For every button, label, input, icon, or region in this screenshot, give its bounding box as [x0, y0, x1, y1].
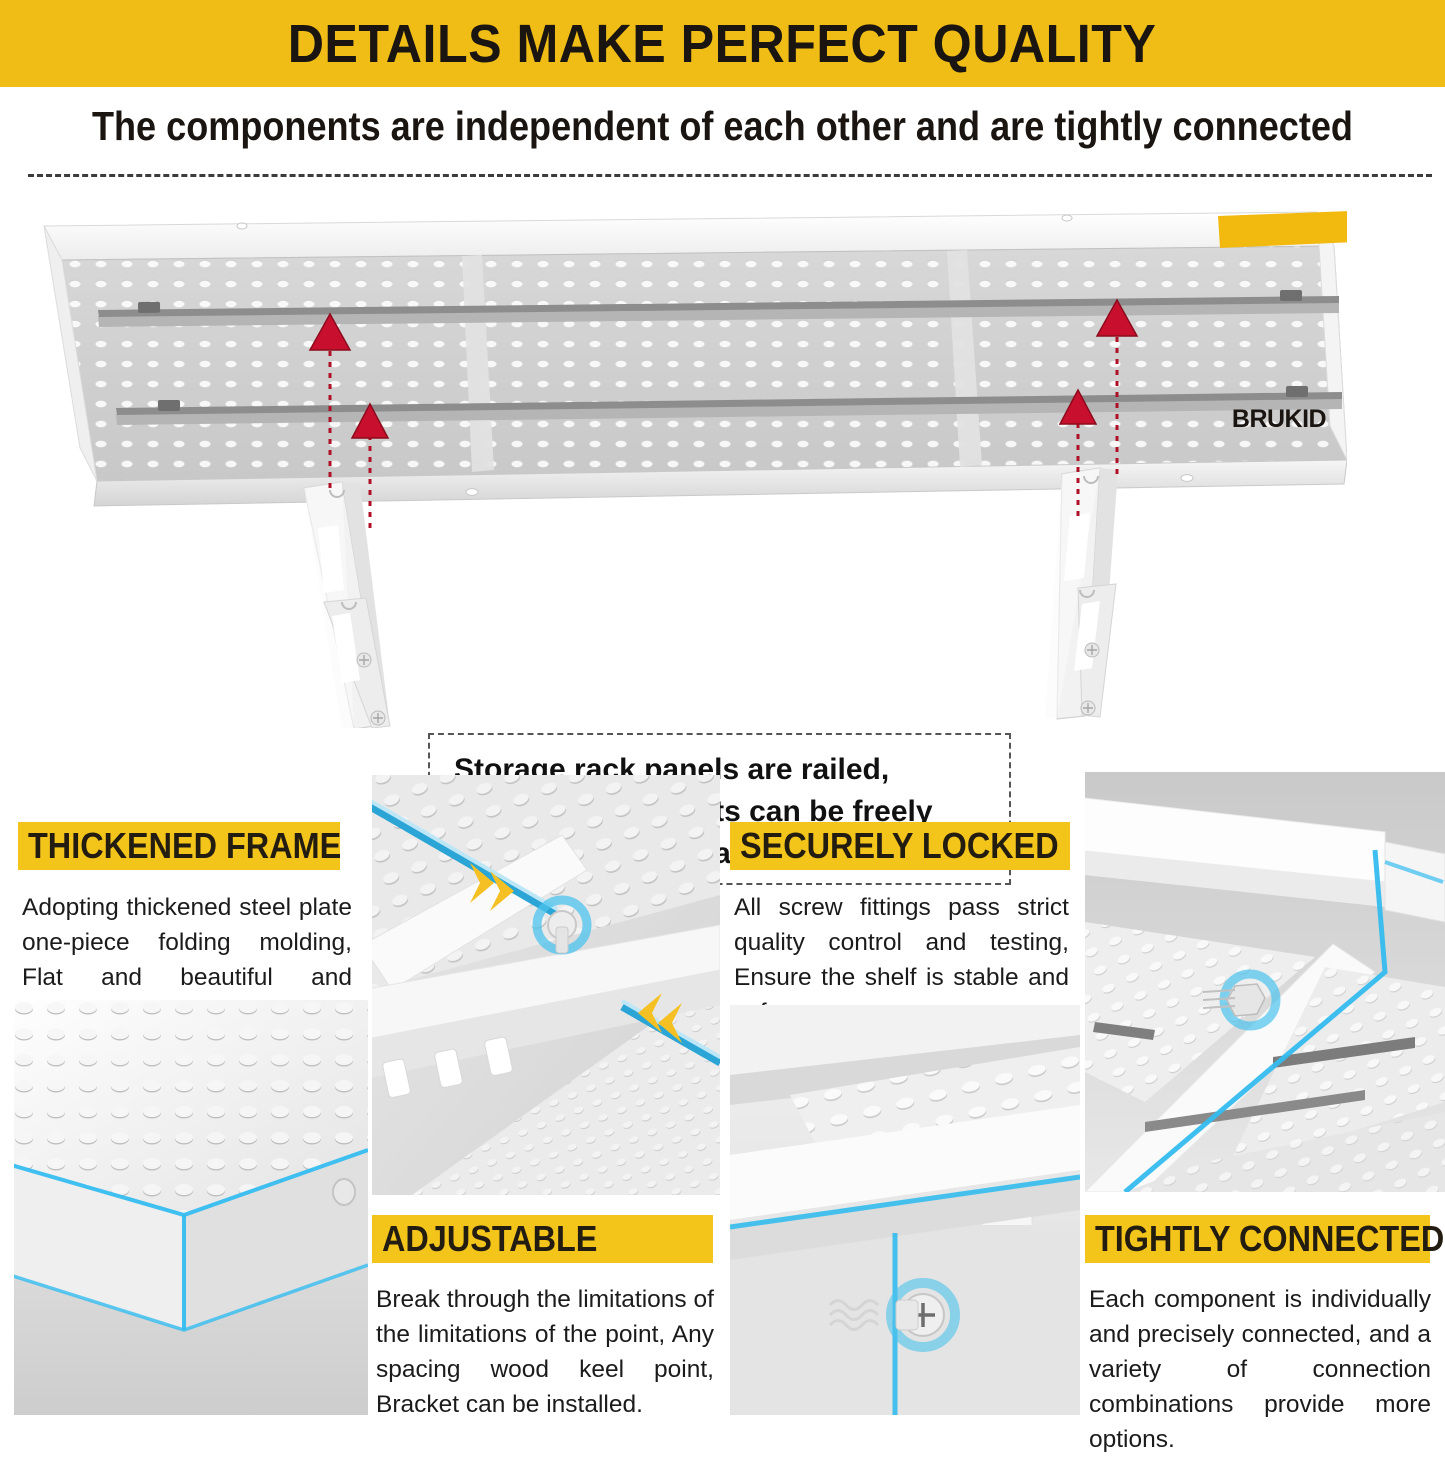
brand-logo: BRUKID: [1218, 403, 1340, 435]
feature-label-text: TIGHTLY CONNECTED: [1095, 1218, 1444, 1260]
feature-photo-frame-bolt: [1085, 772, 1445, 1192]
feature-photo-perforated-plate: [14, 1000, 368, 1415]
feature-label-thickened-frame: THICKENED FRAME: [18, 822, 340, 870]
feature-grid: THICKENED FRAME Adopting thickened steel…: [0, 760, 1445, 1415]
hero-product-illustration: BRUKID Storage rack panels are railed, E…: [0, 190, 1445, 750]
feature-label-adjustable: ADJUSTABLE: [372, 1215, 713, 1263]
page-subtitle: The components are independent of each o…: [92, 103, 1353, 150]
feature-label-securely-locked: SECURELY LOCKED: [730, 822, 1070, 870]
subtitle-container: The components are independent of each o…: [0, 87, 1445, 157]
feature-label-text: ADJUSTABLE: [382, 1218, 597, 1260]
brand-badge: [1218, 211, 1347, 248]
feature-column-securely-locked: SECURELY LOCKED All screw fittings pass …: [730, 760, 1078, 1415]
brand-logo-text: BRUKID: [1232, 405, 1326, 434]
feature-column-thickened-frame: THICKENED FRAME Adopting thickened steel…: [0, 760, 368, 1415]
bracket-right: [1045, 468, 1118, 719]
feature-photo-screw-fitting: [730, 1005, 1080, 1415]
feature-photo-adjustable-rail: [372, 775, 720, 1195]
feature-text-tightly-connected: Each component is individually and preci…: [1085, 1272, 1437, 1457]
page-title: DETAILS MAKE PERFECT QUALITY: [288, 13, 1157, 75]
feature-label-tightly-connected: TIGHTLY CONNECTED: [1085, 1215, 1430, 1263]
feature-label-text: THICKENED FRAME: [28, 825, 341, 867]
shelf-board-graphic: [42, 198, 1347, 468]
feature-column-tightly-connected: TIGHTLY CONNECTED Each component is indi…: [1085, 760, 1445, 1415]
feature-label-text: SECURELY LOCKED: [740, 825, 1059, 867]
dashed-divider: [28, 174, 1432, 177]
bracket-left: [304, 482, 390, 728]
header-banner: DETAILS MAKE PERFECT QUALITY: [0, 0, 1445, 87]
feature-text-adjustable: Break through the limitations of the lim…: [372, 1272, 720, 1422]
feature-column-adjustable: ADJUSTABLE Break through the limitations…: [372, 760, 720, 1415]
